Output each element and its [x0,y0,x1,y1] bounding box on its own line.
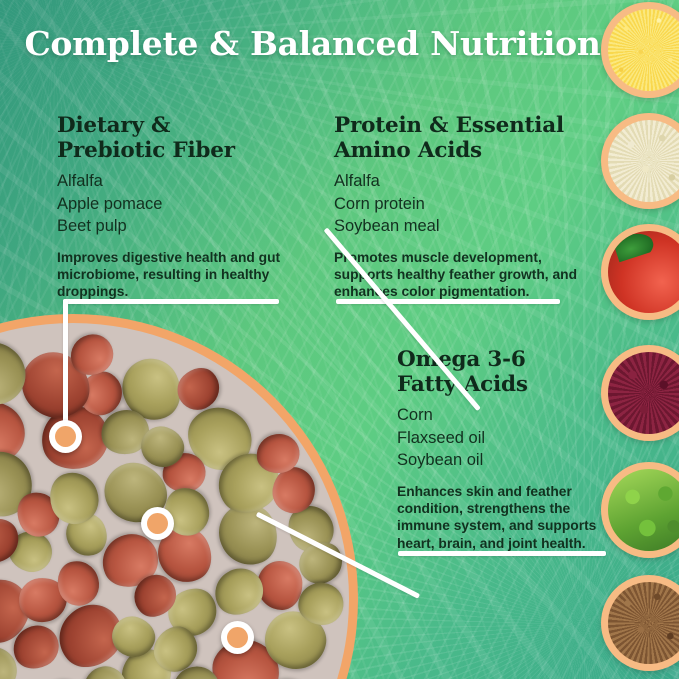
bowl-interior [0,323,349,679]
ingredient-item: Corn [397,406,433,424]
flaxseed-circle [601,575,679,671]
corn-meal-circle [601,2,679,98]
nutrition-block-fiber: Dietary & Prebiotic Fiber Alfalfa Apple … [57,113,317,301]
food-pellet [256,560,303,611]
block-heading-protein: Protein & Essential Amino Acids [334,113,596,163]
soybean-meal-circle [601,113,679,209]
block-description-protein: Promotes muscle development, supports he… [334,249,596,301]
pellet-food-bowl [0,314,358,679]
apple-texture [608,231,679,313]
callout-marker-fiber[interactable] [49,420,82,453]
block-heading-protein-line2: Amino Acids [334,138,482,163]
callout-line-fiber-vertical [63,299,68,425]
block-heading-fiber-line2: Prebiotic Fiber [57,138,235,163]
block-heading-protein-line1: Protein & Essential [334,113,564,138]
ingredient-item: Corn protein [334,195,425,213]
ingredient-list-protein: Alfalfa Corn protein Soybean meal [334,170,596,238]
alfalfa-texture [608,469,679,551]
soybean-meal-texture [608,120,679,202]
nutrition-block-omega: Omega 3-6 Fatty Acids Corn Flaxseed oil … [397,347,619,552]
ingredient-list-fiber: Alfalfa Apple pomace Beet pulp [57,170,317,238]
block-heading-fiber-line1: Dietary & [57,113,170,138]
callout-marker-protein[interactable] [141,507,174,540]
block-heading-fiber: Dietary & Prebiotic Fiber [57,113,317,163]
callout-marker-omega[interactable] [221,621,254,654]
ingredient-item: Soybean oil [397,451,483,469]
flaxseed-texture [608,582,679,664]
apple-circle [601,224,679,320]
callout-line-omega-horizontal [398,551,606,556]
ingredient-item: Alfalfa [334,172,380,190]
ingredient-item: Apple pomace [57,195,163,213]
block-description-fiber: Improves digestive health and gut microb… [57,249,317,301]
corn-meal-texture [608,9,679,91]
ingredient-list-omega: Corn Flaxseed oil Soybean oil [397,404,619,472]
block-heading-omega-line1: Omega 3-6 [397,347,526,372]
nutrition-block-protein: Protein & Essential Amino Acids Alfalfa … [334,113,596,301]
ingredient-item: Beet pulp [57,217,127,235]
callout-line-fiber-horizontal [63,299,279,304]
beet-pulp-texture [608,352,679,434]
ingredient-item: Soybean meal [334,217,440,235]
ingredient-item: Flaxseed oil [397,429,485,447]
nutrition-infographic: Complete & Balanced Nutrition Dietary & … [0,0,679,679]
block-description-omega: Enhances skin and feather condition, str… [397,483,619,553]
ingredient-item: Alfalfa [57,172,103,190]
callout-line-protein-horizontal [336,299,560,304]
page-title: Complete & Balanced Nutrition [0,24,625,63]
